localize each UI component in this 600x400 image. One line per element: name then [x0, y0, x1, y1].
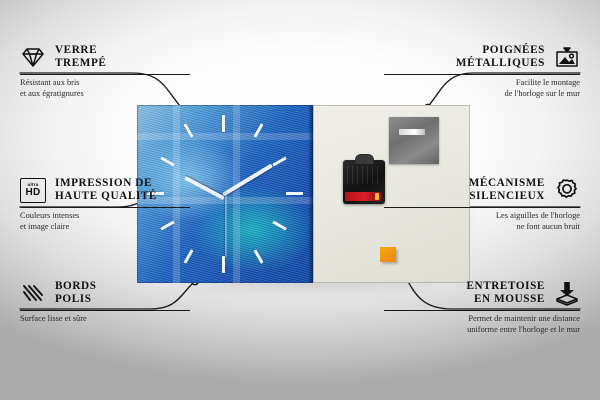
feature-description: Résistant aux bris et aux égratignures	[20, 78, 190, 99]
divider	[20, 74, 190, 75]
feature-description: Les aiguilles de l'horloge ne font aucun…	[384, 211, 580, 232]
feature-title: POIGNÉES MÉTALLIQUES	[456, 44, 545, 71]
wall-hanger-icon	[554, 44, 580, 70]
feature-verre-trempe: VERRE TREMPÉ Résistant aux bris et aux é…	[20, 44, 190, 99]
divider	[20, 207, 190, 208]
feature-title: VERRE TREMPÉ	[55, 44, 106, 71]
feature-title: ENTRETOISE EN MOUSSE	[466, 280, 545, 307]
feature-bords-polis: BORDS POLIS Surface lisse et sûre	[20, 280, 190, 325]
clock-hand-second	[225, 195, 226, 257]
quartz-movement	[343, 160, 385, 204]
feature-title: MÉCANISME SILENCIEUX	[469, 177, 545, 204]
foam-spacer	[380, 247, 396, 262]
metal-hanger-plate	[389, 117, 439, 164]
feature-poignees-metalliques: POIGNÉES MÉTALLIQUES Facilite le montage…	[384, 44, 580, 99]
clock-hand-minute	[223, 164, 273, 196]
feature-impression-hd: ultra HD IMPRESSION DE HAUTE QUALITÉ Cou…	[20, 177, 190, 232]
divider	[384, 207, 580, 208]
clock-tick	[222, 256, 225, 273]
clock-tick	[222, 115, 225, 132]
feature-entretoise-mousse: ENTRETOISE EN MOUSSE Permet de maintenir…	[384, 280, 580, 335]
divider	[384, 74, 580, 75]
diamond-icon	[20, 44, 46, 70]
clock-center-pin	[223, 192, 227, 196]
clock-tick	[272, 156, 286, 166]
clock-tick	[253, 249, 263, 263]
battery-label	[345, 192, 381, 201]
foam-spacer-icon	[554, 280, 580, 306]
feature-mecanisme-silencieux: MÉCANISME SILENCIEUX Les aiguilles de l'…	[384, 177, 580, 232]
divider	[20, 310, 190, 311]
clock-tick	[272, 220, 286, 230]
feature-title: BORDS POLIS	[55, 280, 97, 307]
feature-description: Facilite le montage de l'horloge sur le …	[384, 78, 580, 99]
infographic-canvas: VERRE TREMPÉ Résistant aux bris et aux é…	[0, 0, 600, 400]
polished-edges-icon	[20, 280, 46, 306]
feature-title: IMPRESSION DE HAUTE QUALITÉ	[55, 177, 157, 204]
clock-tick	[286, 192, 303, 195]
feature-description: Couleurs intenses et image claire	[20, 211, 190, 232]
feature-description: Permet de maintenir une distance uniform…	[384, 314, 580, 335]
gear-icon	[554, 177, 580, 203]
feature-description: Surface lisse et sûre	[20, 314, 190, 324]
ultra-hd-icon: ultra HD	[20, 178, 46, 203]
divider	[384, 310, 580, 311]
clock-tick	[183, 249, 193, 263]
